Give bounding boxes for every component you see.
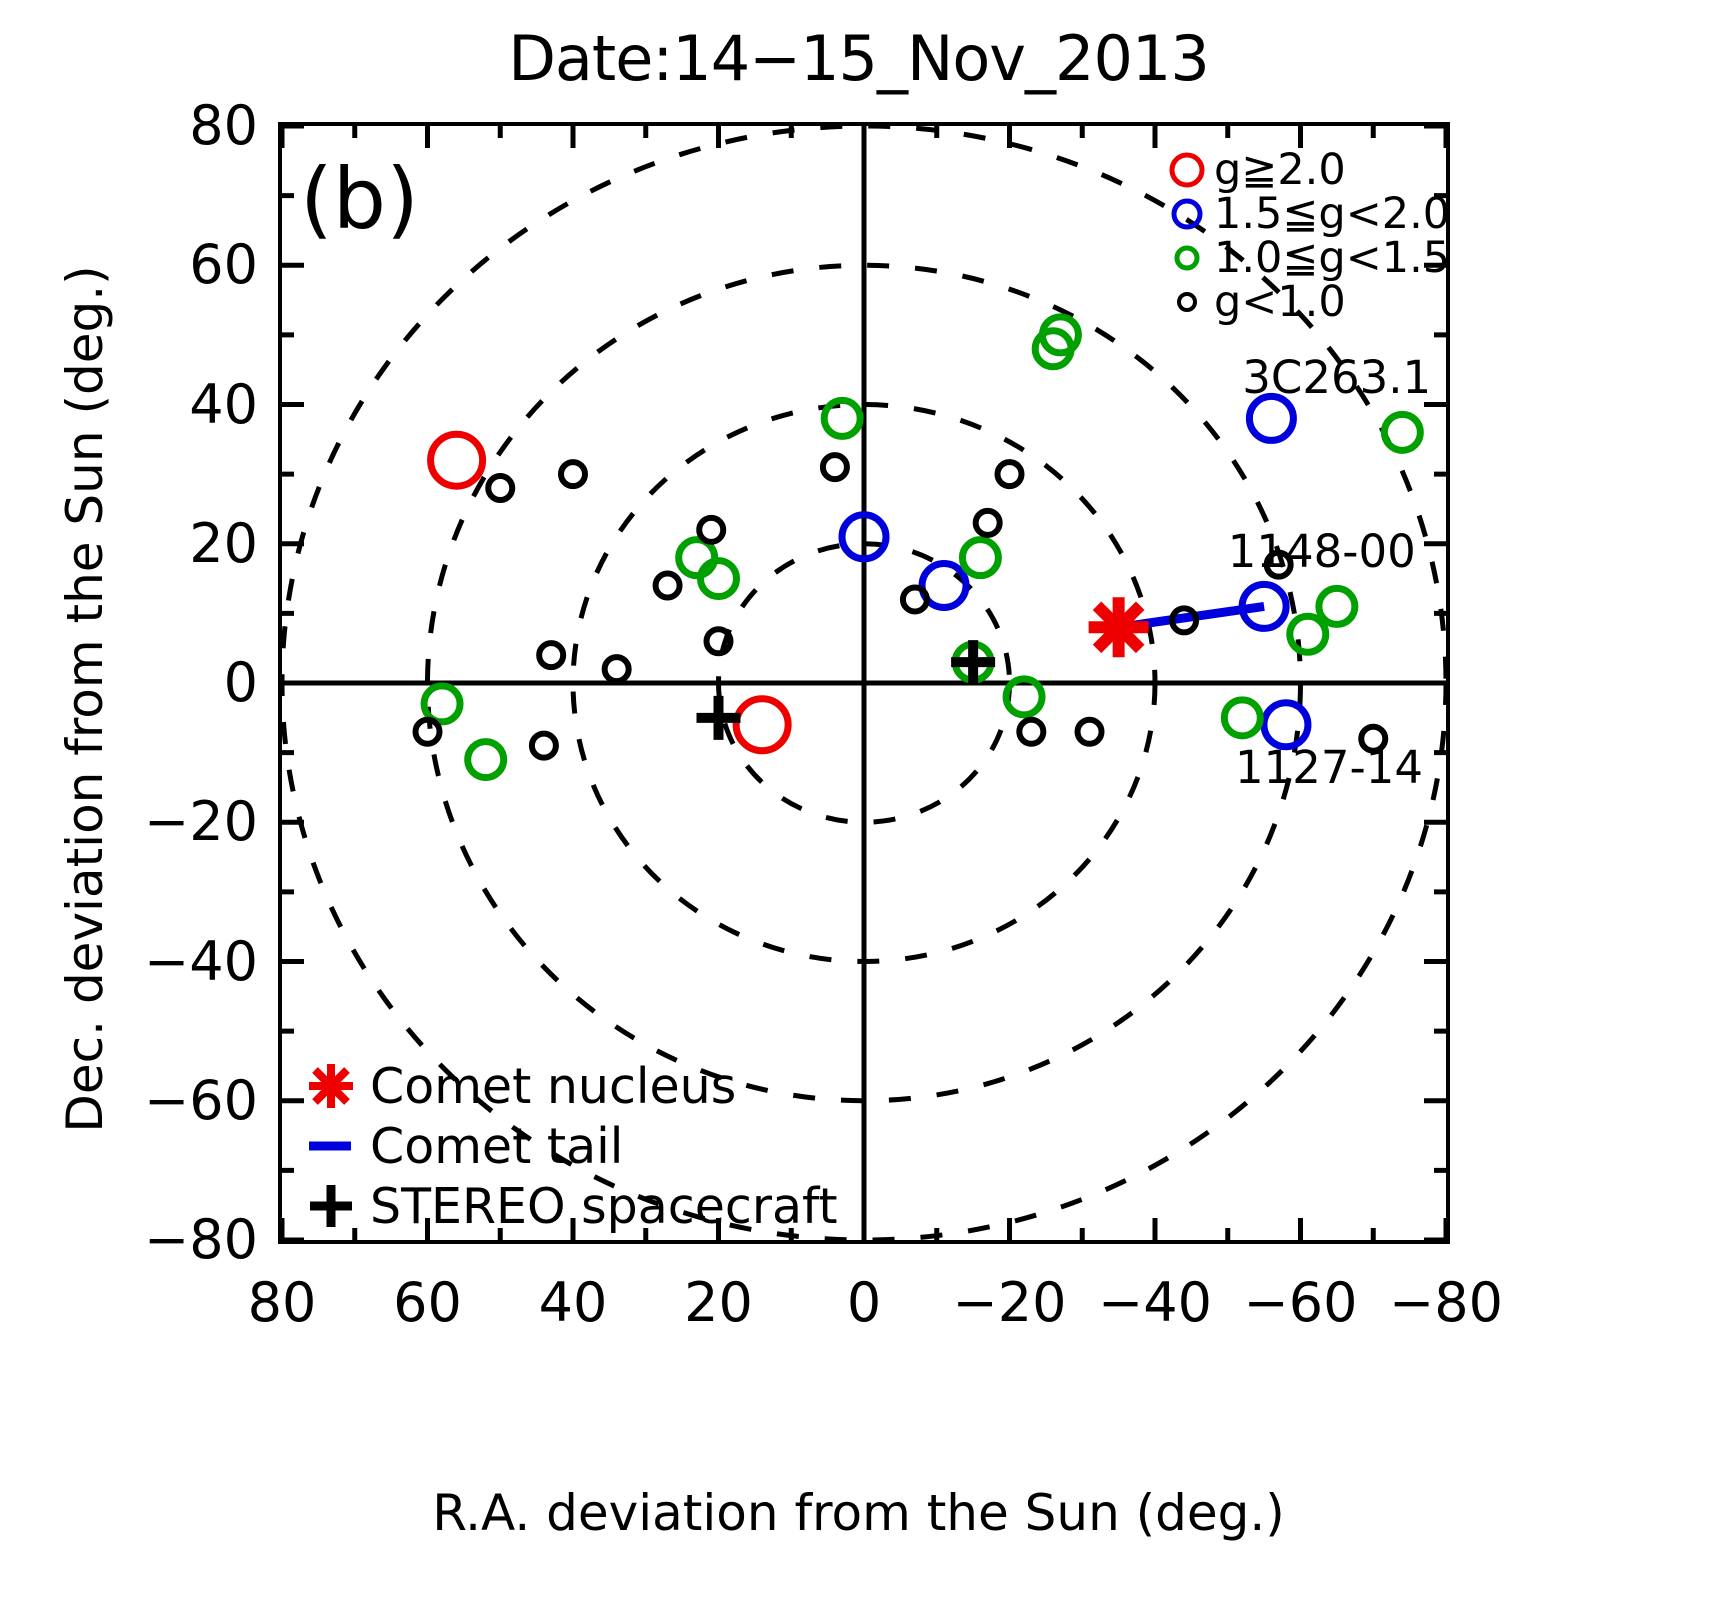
- legend-g-classes: g≧2.0 1.5≦g<2.0 1.0≦g<1.5 g<1.0: [1160, 148, 1450, 324]
- x-tick-label: −80: [1366, 1276, 1526, 1330]
- data-point: [532, 734, 556, 758]
- page-title: Date:14−15_Nov_2013: [0, 22, 1717, 95]
- x-tick-label: −40: [1075, 1276, 1235, 1330]
- asterisk-icon: [292, 1058, 370, 1114]
- legend-item-comet-tail: Comet tail: [292, 1116, 838, 1176]
- legend-item-comet-nucleus: Comet nucleus: [292, 1056, 838, 1116]
- data-point: [1290, 616, 1326, 652]
- blue-line-icon: [292, 1118, 370, 1174]
- data-point: [431, 434, 483, 486]
- blue-circle-icon: [1160, 192, 1214, 236]
- data-point: [656, 574, 680, 598]
- x-tick-label: 60: [348, 1276, 508, 1330]
- legend-label-g-15-20: 1.5≦g<2.0: [1214, 189, 1450, 239]
- legend-item-g-10-15: 1.0≦g<1.5: [1160, 236, 1450, 280]
- data-point: [736, 699, 788, 751]
- data-point: [468, 742, 504, 778]
- y-tick-label: −80: [118, 1213, 258, 1267]
- black-circle-icon: [1160, 280, 1214, 324]
- y-tick-label: −40: [118, 935, 258, 989]
- green-circle-icon: [1160, 236, 1214, 280]
- legend-label-g-10-15: 1.0≦g<1.5: [1214, 233, 1450, 283]
- y-tick-label: 80: [118, 99, 258, 153]
- legend-label-comet-nucleus: Comet nucleus: [370, 1058, 736, 1115]
- x-tick-label: 0: [784, 1276, 944, 1330]
- x-tick-label: 80: [202, 1276, 362, 1330]
- comet-nucleus-marker: [1089, 597, 1149, 657]
- data-point: [1224, 700, 1260, 736]
- legend-label-stereo-spacecraft: STEREO spacecraft: [370, 1178, 838, 1235]
- red-circle-icon: [1160, 148, 1214, 192]
- legend-item-g-15-20: 1.5≦g<2.0: [1160, 192, 1450, 236]
- data-point: [976, 511, 1000, 535]
- data-point: [679, 540, 715, 576]
- x-tick-label: 40: [493, 1276, 653, 1330]
- data-point: [699, 518, 723, 542]
- legend-label-g-ge-2: g≧2.0: [1214, 145, 1346, 195]
- y-tick-label: 20: [118, 517, 258, 571]
- data-point: [605, 657, 629, 681]
- legend-item-stereo-spacecraft: STEREO spacecraft: [292, 1176, 838, 1236]
- x-axis-title: R.A. deviation from the Sun (deg.): [0, 1484, 1717, 1542]
- legend-symbols: Comet nucleus Comet tail STEREO spacecra…: [292, 1056, 838, 1236]
- data-point: [1319, 588, 1355, 624]
- data-point: [823, 455, 847, 479]
- y-axis-title: Dec. deviation from the Sun (deg.): [56, 199, 114, 1199]
- x-tick-label: −20: [930, 1276, 1090, 1330]
- legend-item-g-lt-1: g<1.0: [1160, 280, 1450, 324]
- data-point: [424, 686, 460, 722]
- y-tick-label: −20: [118, 795, 258, 849]
- data-point: [962, 540, 998, 576]
- y-tick-label: 40: [118, 378, 258, 432]
- x-tick-label: −60: [1221, 1276, 1381, 1330]
- legend-label-g-lt-1: g<1.0: [1214, 277, 1346, 327]
- legend-item-g-ge-2: g≧2.0: [1160, 148, 1450, 192]
- data-point: [824, 400, 860, 436]
- data-point: [701, 561, 737, 597]
- panel-label: (b): [300, 150, 419, 248]
- data-point: [1078, 720, 1102, 744]
- source-label-1127-14: 1127-14: [1235, 741, 1423, 794]
- data-point: [1384, 414, 1420, 450]
- legend-label-comet-tail: Comet tail: [370, 1118, 623, 1175]
- y-tick-label: −60: [118, 1074, 258, 1128]
- x-tick-label: 20: [639, 1276, 799, 1330]
- data-point: [1019, 720, 1043, 744]
- source-label-1148-00: 1148-00: [1228, 525, 1416, 578]
- plus-icon: [292, 1178, 370, 1234]
- data-point: [561, 462, 585, 486]
- data-point: [488, 476, 512, 500]
- y-tick-label: 60: [118, 238, 258, 292]
- data-point: [998, 462, 1022, 486]
- y-tick-label: 0: [118, 656, 258, 710]
- data-point: [539, 643, 563, 667]
- source-label-3c263: 3C263.1: [1242, 351, 1431, 404]
